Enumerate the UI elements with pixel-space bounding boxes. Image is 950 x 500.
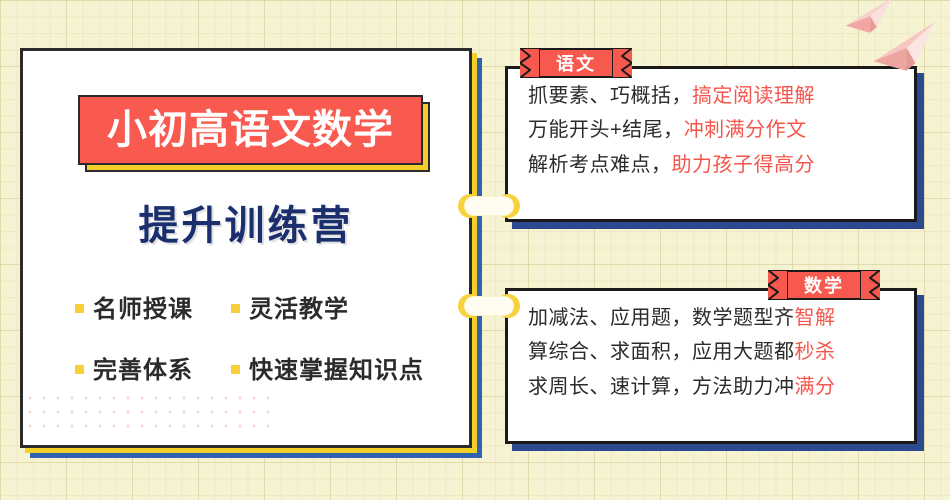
- subject-line-normal: 求周长、速计算，方法助力冲: [528, 376, 795, 398]
- subject-line: 万能开头+结尾，冲刺满分作文: [528, 115, 900, 145]
- headline-text: 小初高语文数学: [107, 110, 394, 150]
- square-bullet-icon: [231, 304, 240, 313]
- headline-banner-group: 小初高语文数学: [78, 95, 423, 165]
- ribbon-end-left: [520, 48, 540, 78]
- feature-label: 快速掌握知识点: [249, 350, 424, 385]
- subject-card-chinese-body: 抓要素、巧概括，搞定阅读理解 万能开头+结尾，冲刺满分作文 解析考点难点，助力孩…: [505, 66, 917, 222]
- square-bullet-icon: [75, 304, 84, 313]
- connector-pill-bottom: [458, 294, 520, 318]
- square-bullet-icon: [75, 365, 84, 374]
- main-promo-card-body: 小初高语文数学 提升训练营 名师授课 灵活教学 完善体系 快速掌握知识点: [20, 48, 472, 448]
- feature-item-2: 灵活教学: [231, 289, 445, 324]
- subject-line-highlight: 冲刺满分作文: [684, 119, 807, 141]
- subject-line-normal: 抓要素、巧概括，: [528, 85, 692, 107]
- ribbon-badge-math: 数学: [768, 270, 880, 300]
- connector-pill-top: [458, 194, 520, 218]
- subject-card-math-body: 加减法、应用题，数学题型齐智解 算综合、求面积，应用大题都秒杀 求周长、速计算，…: [505, 288, 917, 444]
- feature-label: 完善体系: [93, 350, 193, 385]
- ribbon-body: 语文: [540, 48, 612, 78]
- ribbon-end-right: [860, 270, 880, 300]
- subject-line-normal: 解析考点难点，: [528, 154, 672, 176]
- feature-label: 名师授课: [93, 289, 193, 324]
- feature-label: 灵活教学: [249, 289, 349, 324]
- subject-card-math-lines: 加减法、应用题，数学题型齐智解 算综合、求面积，应用大题都秒杀 求周长、速计算，…: [528, 303, 900, 402]
- feature-list: 名师授课 灵活教学 完善体系 快速掌握知识点: [75, 289, 445, 385]
- ribbon-badge-chinese: 语文: [520, 48, 632, 78]
- subject-line: 算综合、求面积，应用大题都秒杀: [528, 337, 900, 367]
- subject-line: 求周长、速计算，方法助力冲满分: [528, 372, 900, 402]
- subject-line-normal: 加减法、应用题，数学题型齐: [528, 307, 795, 329]
- ribbon-body: 数学: [788, 270, 860, 300]
- subject-line: 加减法、应用题，数学题型齐智解: [528, 303, 900, 333]
- subject-line-highlight: 智解: [795, 307, 836, 329]
- subject-line-highlight: 秒杀: [795, 341, 836, 363]
- subject-line-highlight: 助力孩子得高分: [672, 154, 816, 176]
- subject-line-highlight: 满分: [795, 376, 836, 398]
- ribbon-label: 数学: [804, 272, 844, 298]
- subject-line: 抓要素、巧概括，搞定阅读理解: [528, 81, 900, 111]
- feature-item-3: 完善体系: [75, 350, 223, 385]
- square-bullet-icon: [231, 365, 240, 374]
- ribbon-end-right: [612, 48, 632, 78]
- subject-line-normal: 算综合、求面积，应用大题都: [528, 341, 795, 363]
- subject-card-chinese-lines: 抓要素、巧概括，搞定阅读理解 万能开头+结尾，冲刺满分作文 解析考点难点，助力孩…: [528, 81, 900, 180]
- subject-card-chinese: 抓要素、巧概括，搞定阅读理解 万能开头+结尾，冲刺满分作文 解析考点难点，助力孩…: [505, 66, 917, 222]
- subject-line-highlight: 搞定阅读理解: [692, 85, 815, 107]
- feature-item-1: 名师授课: [75, 289, 223, 324]
- connector-bar: [465, 297, 513, 315]
- ribbon-label: 语文: [556, 50, 596, 76]
- main-promo-card: 小初高语文数学 提升训练营 名师授课 灵活教学 完善体系 快速掌握知识点: [20, 48, 472, 448]
- dot-pattern-decoration: [23, 391, 273, 437]
- subject-line: 解析考点难点，助力孩子得高分: [528, 150, 900, 180]
- ribbon-end-left: [768, 270, 788, 300]
- subject-line-normal: 万能开头+结尾，: [528, 119, 684, 141]
- headline-banner: 小初高语文数学: [78, 95, 423, 165]
- connector-bar: [465, 197, 513, 215]
- page-subtitle: 提升训练营: [23, 193, 469, 251]
- feature-item-4: 快速掌握知识点: [231, 350, 445, 385]
- subject-card-math: 加减法、应用题，数学题型齐智解 算综合、求面积，应用大题都秒杀 求周长、速计算，…: [505, 288, 917, 444]
